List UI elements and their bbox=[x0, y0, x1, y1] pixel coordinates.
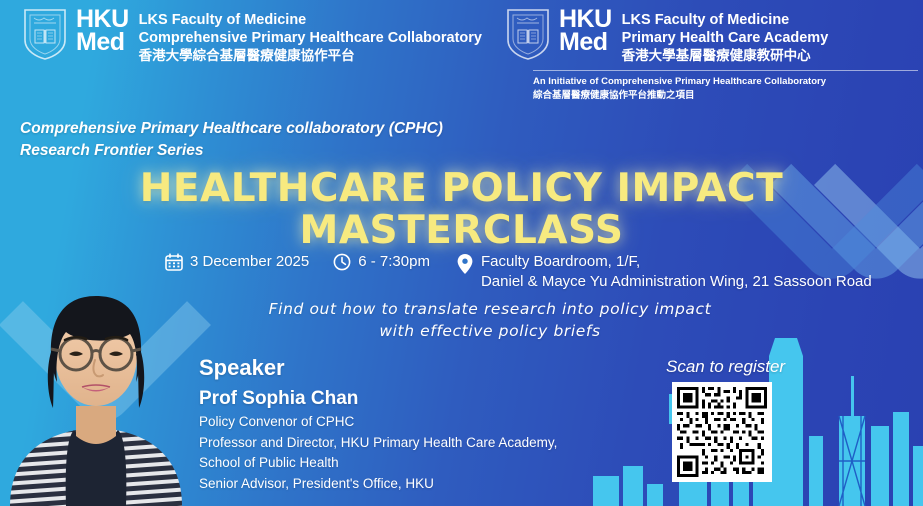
wordmark-med: Med bbox=[559, 31, 612, 54]
map-pin-icon bbox=[456, 253, 474, 275]
divider bbox=[533, 70, 918, 71]
location-line2: Daniel & Mayce Yu Administration Wing, 2… bbox=[481, 272, 872, 292]
initiative-chinese: 綜合基層醫療健康協作平台推動之項目 bbox=[533, 89, 918, 102]
left-hkumed-wordmark: HKU Med bbox=[76, 8, 129, 54]
credential-line: Policy Convenor of CPHC bbox=[199, 412, 557, 433]
event-tagline: Find out how to translate research into … bbox=[230, 298, 750, 343]
left-faculty-line1: LKS Faculty of Medicine bbox=[139, 11, 482, 29]
scan-to-register-label: Scan to register bbox=[666, 357, 785, 377]
left-logo-text: LKS Faculty of Medicine Comprehensive Pr… bbox=[139, 8, 482, 65]
wordmark-med: Med bbox=[76, 31, 129, 54]
credential-line: Professor and Director, HKU Primary Heal… bbox=[199, 433, 557, 454]
right-faculty-line1: LKS Faculty of Medicine bbox=[622, 11, 829, 29]
initiative-english: An Initiative of Comprehensive Primary H… bbox=[533, 76, 918, 89]
series-label: Comprehensive Primary Healthcare collabo… bbox=[20, 118, 443, 163]
header-logos: HKU Med LKS Faculty of Medicine Comprehe… bbox=[0, 0, 923, 100]
clock-icon bbox=[333, 253, 351, 271]
event-time: 6 - 7:30pm bbox=[333, 252, 430, 272]
initiative-note: An Initiative of Comprehensive Primary H… bbox=[533, 70, 918, 102]
title-line2: MASTERCLASS bbox=[0, 210, 923, 252]
event-location-text: Faculty Boardroom, 1/F, Daniel & Mayce Y… bbox=[481, 252, 872, 293]
hku-crest-icon bbox=[22, 8, 68, 60]
series-line1: Comprehensive Primary Healthcare collabo… bbox=[20, 118, 443, 140]
left-logo-block: HKU Med LKS Faculty of Medicine Comprehe… bbox=[22, 8, 482, 65]
right-faculty-chinese: 香港大學基層醫療健康教研中心 bbox=[622, 47, 829, 65]
qr-code-graphic[interactable] bbox=[677, 387, 767, 477]
title-line1: HEALTHCARE POLICY IMPACT bbox=[0, 168, 923, 210]
right-logo-text: LKS Faculty of Medicine Primary Health C… bbox=[622, 8, 829, 65]
credential-line: Senior Advisor, President's Office, HKU bbox=[199, 474, 557, 495]
right-faculty-line2: Primary Health Care Academy bbox=[622, 29, 829, 47]
speaker-heading: Speaker bbox=[199, 355, 285, 381]
credential-line: School of Public Health bbox=[199, 453, 557, 474]
tagline-line2: with effective policy briefs bbox=[230, 320, 750, 342]
left-faculty-line2: Comprehensive Primary Healthcare Collabo… bbox=[139, 29, 482, 47]
hku-crest-icon bbox=[505, 8, 551, 60]
page-title: HEALTHCARE POLICY IMPACT MASTERCLASS bbox=[0, 168, 923, 252]
right-logo-block: HKU Med LKS Faculty of Medicine Primary … bbox=[505, 8, 828, 65]
speaker-portrait bbox=[0, 248, 196, 506]
series-line2: Research Frontier Series bbox=[20, 140, 443, 162]
event-location: Faculty Boardroom, 1/F, Daniel & Mayce Y… bbox=[456, 252, 872, 293]
event-poster: HKU Med LKS Faculty of Medicine Comprehe… bbox=[0, 0, 923, 506]
right-hkumed-wordmark: HKU Med bbox=[559, 8, 612, 54]
location-line1: Faculty Boardroom, 1/F, bbox=[481, 252, 872, 272]
event-date-text: 3 December 2025 bbox=[190, 252, 309, 272]
left-faculty-chinese: 香港大學綜合基層醫療健康協作平台 bbox=[139, 47, 482, 65]
event-details: 3 December 2025 6 - 7:30pm Faculty Board… bbox=[165, 252, 872, 293]
qr-code-icon[interactable] bbox=[672, 382, 772, 482]
speaker-name: Prof Sophia Chan bbox=[199, 388, 358, 410]
speaker-credentials: Policy Convenor of CPHC Professor and Di… bbox=[199, 412, 557, 494]
event-time-text: 6 - 7:30pm bbox=[358, 252, 430, 272]
tagline-line1: Find out how to translate research into … bbox=[230, 298, 750, 320]
